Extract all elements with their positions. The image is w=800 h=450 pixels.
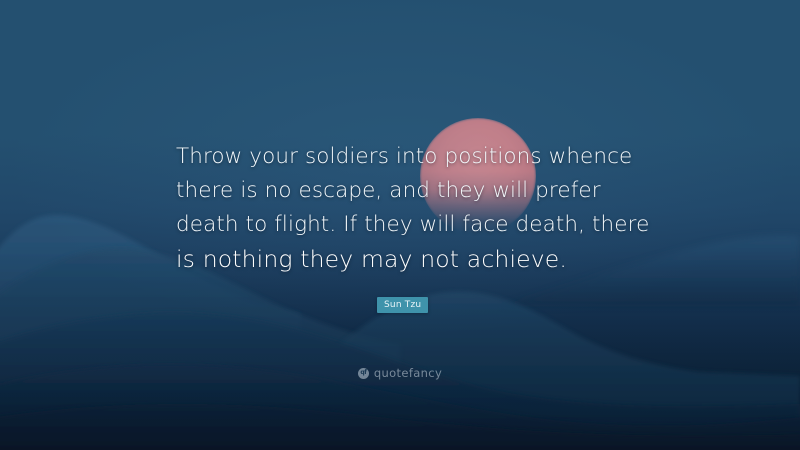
quote-wallpaper: Throw your soldiers into positions whenc… bbox=[0, 0, 800, 450]
quote-text-block: Throw your soldiers into positions whenc… bbox=[176, 140, 646, 277]
quote-line-4: is nothing they may not achieve. bbox=[176, 242, 646, 277]
author-name: Sun Tzu bbox=[384, 300, 421, 310]
quote-line-2: there is no escape, and they will prefer bbox=[176, 174, 646, 208]
quotefancy-brand-label: quotefancy bbox=[374, 366, 442, 380]
quote-line-3: death to flight. If they will face death… bbox=[176, 208, 646, 242]
quotefancy-logo-icon: qf bbox=[358, 368, 369, 379]
quote-line-1: Throw your soldiers into positions whenc… bbox=[176, 140, 646, 174]
quotefancy-watermark[interactable]: qf quotefancy bbox=[0, 366, 800, 380]
author-badge[interactable]: Sun Tzu bbox=[377, 297, 428, 313]
